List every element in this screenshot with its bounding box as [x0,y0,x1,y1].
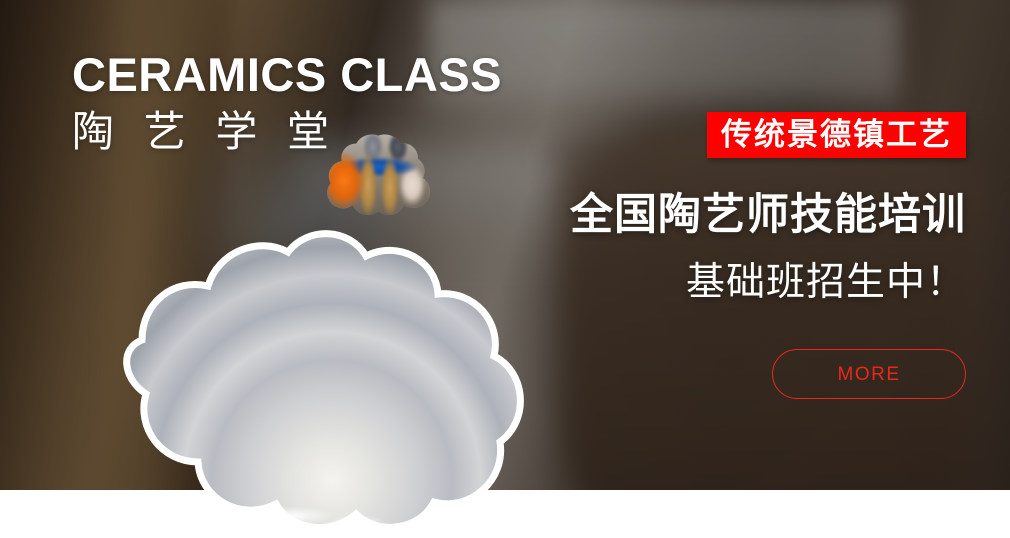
promo-subline: 基础班招生中！ [546,262,966,305]
status-badge: 传统景德镇工艺 [707,112,966,158]
promo-headline: 全国陶艺师技能培训 [546,192,966,239]
banner-title-block: CERAMICS CLASS 陶 艺 学 堂 [72,50,502,156]
page-title-chinese: 陶 艺 学 堂 [72,107,502,157]
page-title-english: CERAMICS CLASS [72,50,502,100]
ceramics-class-banner: CERAMICS CLASS 陶 艺 学 堂 [0,0,1010,538]
more-button[interactable]: MORE [772,349,966,399]
cloud-photo-child-pottery-wheel [82,230,528,530]
cloud-main-photo [82,230,528,530]
cloud-main-shape-icon [82,230,528,530]
banner-right-content: 传统景德镇工艺 全国陶艺师技能培训 基础班招生中！ MORE [546,112,966,399]
